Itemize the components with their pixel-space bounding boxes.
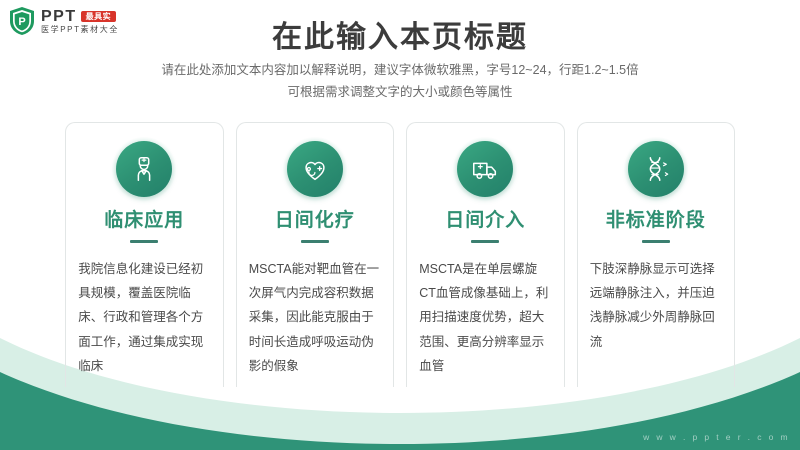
doctor-icon — [129, 154, 159, 184]
card-title-underline — [471, 240, 499, 243]
card-title-underline — [130, 240, 158, 243]
card-body-text: 下肢深静脉显示可选择远端静脉注入，并压迫浅静脉减少外周静脉回流 — [590, 257, 722, 355]
card-daytime-chemotherapy[interactable]: 日间化疗 MSCTA能对靶血管在一次屏气内完成容积数据采集，因此能克服由于时间长… — [236, 122, 395, 387]
card-icon-wrap — [457, 141, 513, 197]
slide-root: P PPT 最具实 医学PPT素材大全 在此输入本页标题 请在此处添加文本内容加… — [0, 0, 800, 450]
page-title: 在此输入本页标题 — [0, 12, 800, 56]
icon-badge — [287, 141, 343, 197]
card-body-text: 我院信息化建设已经初具规模，覆盖医院临床、行政和管理各个方面工作，通过集成实现临… — [78, 257, 210, 379]
card-icon-wrap — [287, 141, 343, 197]
card-non-standard-stage[interactable]: 非标准阶段 下肢深静脉显示可选择远端静脉注入，并压迫浅静脉减少外周静脉回流 — [577, 122, 736, 387]
card-title: 日间介入 — [445, 211, 525, 230]
card-body-text: MSCTA是在单层螺旋CT血管成像基础上，利用扫描速度优势，超大范围、更高分辨率… — [419, 257, 551, 379]
card-body-text: MSCTA能对靶血管在一次屏气内完成容积数据采集，因此能克服由于时间长造成呼吸运… — [249, 257, 381, 379]
card-clinical-application[interactable]: 临床应用 我院信息化建设已经初具规模，覆盖医院临床、行政和管理各个方面工作，通过… — [65, 122, 224, 387]
page-subtitle: 请在此处添加文本内容加以解释说明，建议字体微软雅黑，字号12~24，行距1.2~… — [0, 60, 800, 104]
card-title-underline — [642, 240, 670, 243]
icon-badge — [457, 141, 513, 197]
card-title: 非标准阶段 — [606, 211, 706, 230]
ambulance-icon — [470, 154, 500, 184]
card-grid: 临床应用 我院信息化建设已经初具规模，覆盖医院临床、行政和管理各个方面工作，通过… — [65, 122, 735, 387]
icon-badge — [628, 141, 684, 197]
dna-icon — [641, 154, 671, 184]
heart-stethoscope-icon — [300, 154, 330, 184]
subtitle-line-2: 可根据需求调整文字的大小或颜色等属性 — [0, 82, 800, 104]
card-daytime-intervention[interactable]: 日间介入 MSCTA是在单层螺旋CT血管成像基础上，利用扫描速度优势，超大范围、… — [406, 122, 565, 387]
card-icon-wrap — [628, 141, 684, 197]
site-watermark: w w w . p p t e r . c o m — [643, 432, 790, 442]
card-title: 临床应用 — [104, 211, 184, 230]
card-title-underline — [301, 240, 329, 243]
card-title: 日间化疗 — [275, 211, 355, 230]
card-icon-wrap — [116, 141, 172, 197]
subtitle-line-1: 请在此处添加文本内容加以解释说明，建议字体微软雅黑，字号12~24，行距1.2~… — [0, 60, 800, 82]
icon-badge — [116, 141, 172, 197]
